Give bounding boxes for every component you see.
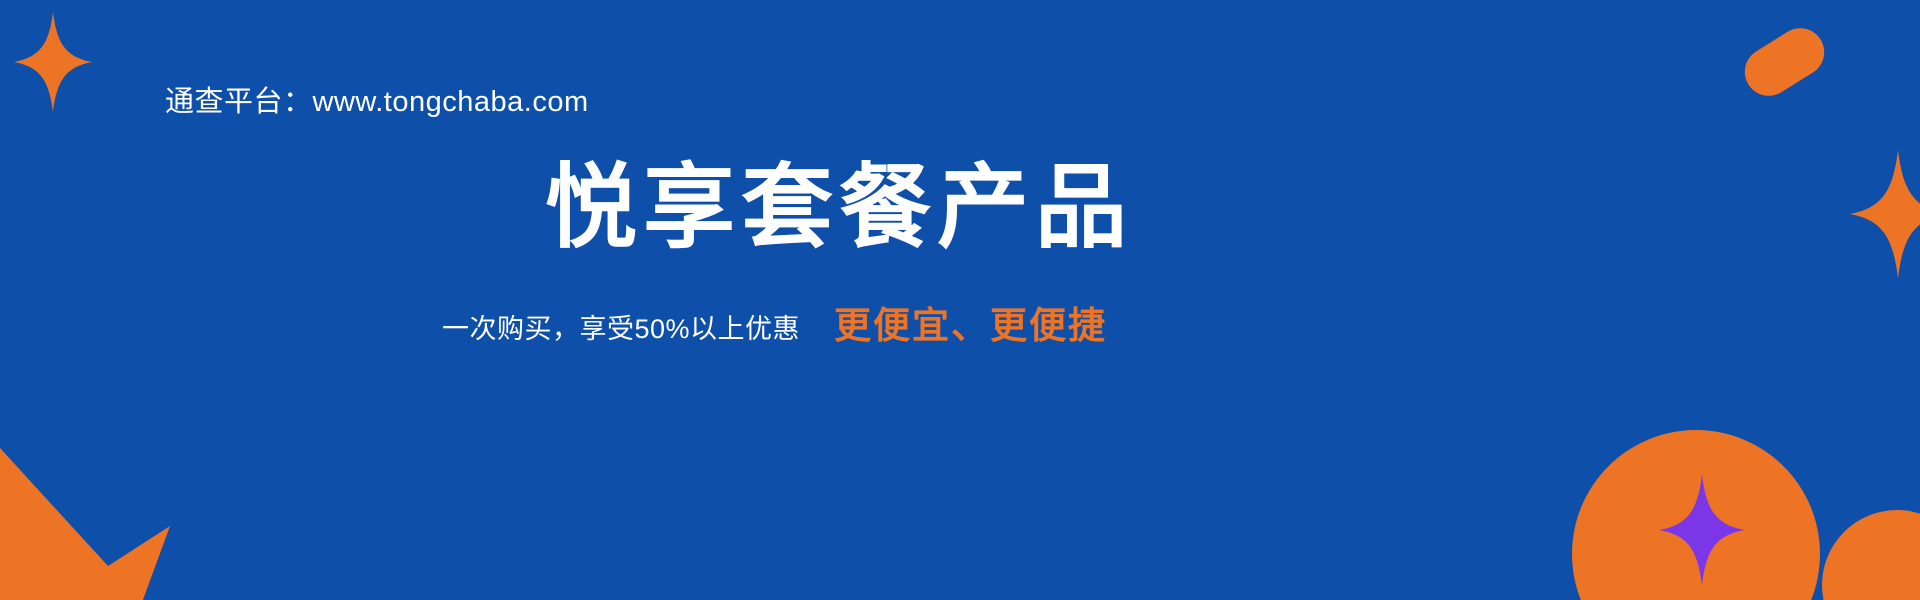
page-title: 悦享套餐产品 [545,160,1133,257]
platform-url[interactable]: www.tongchaba.com [313,86,589,118]
platform-url-line: 通查平台：www.tongchaba.com [165,85,589,120]
subtitle-row: 一次购买，享受50%以上优惠 更便宜、更便捷 [442,295,1107,349]
circle-decoration [1572,430,1820,600]
angular-shard-decoration [0,448,200,600]
platform-label: 通查平台： [165,86,313,118]
sparkle-star-icon-right [1850,150,1920,278]
promo-banner: 通查平台：www.tongchaba.com 悦享套餐产品 一次购买，享受50%… [0,0,1920,600]
sparkle-star-icon-purple [1659,474,1745,586]
subtitle-highlight: 更便宜、更便捷 [834,295,1107,349]
circle-decoration-edge [1822,510,1920,600]
sparkle-star-icon [14,12,92,112]
subtitle-primary: 一次购买，享受50%以上优惠 [442,307,800,346]
pill-shape-decoration [1736,19,1834,105]
